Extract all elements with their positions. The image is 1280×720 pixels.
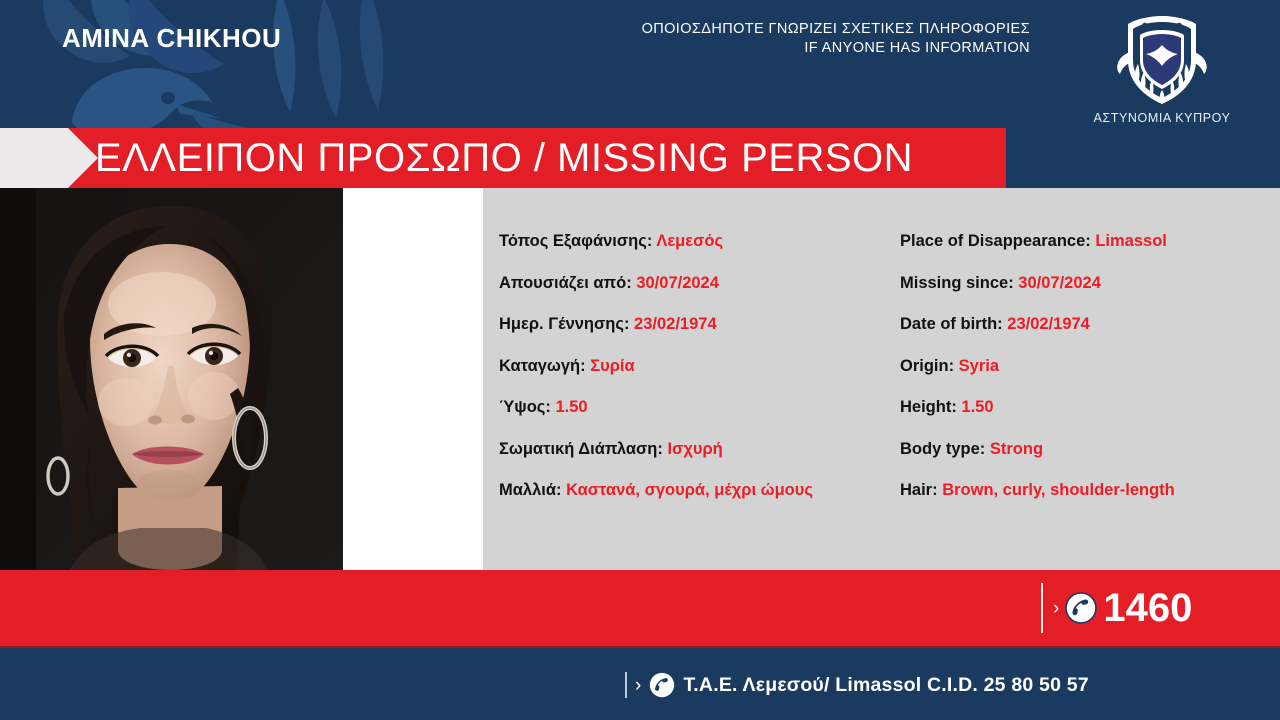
chevron-right-icon: › [1053, 599, 1059, 618]
field-origin-en: Origin: Syria [900, 357, 1175, 376]
field-label: Hair: [900, 481, 938, 499]
field-missing-since-en: Missing since: 30/07/2024 [900, 274, 1175, 293]
chevron-right-icon: › [635, 676, 641, 695]
field-label: Place of Disappearance: [900, 232, 1091, 250]
field-label: Τόπος Εξαφάνισης: [499, 232, 652, 250]
field-place-of-disappearance-en: Place of Disappearance: Limassol [900, 232, 1175, 251]
field-value: Strong [990, 440, 1043, 458]
field-value: Syria [959, 357, 999, 375]
police-emblem-block: ΑΣΤΥΝΟΜΙΑ ΚΥΠΡΟΥ [1062, 12, 1262, 125]
field-missing-since-gr: Απουσιάζει από: 30/07/2024 [499, 274, 813, 293]
field-hair-gr: Μαλλιά: Καστανά, σγουρά, μέχρι ώμους [499, 481, 813, 500]
field-label: Missing since: [900, 274, 1014, 292]
field-height-en: Height: 1.50 [900, 398, 1175, 417]
phone-icon [1065, 592, 1097, 624]
field-label: Height: [900, 398, 957, 416]
page-title: ΕΛΛΕΙΠΟΝ ΠΡΟΣΩΠΟ / MISSING PERSON [95, 128, 913, 188]
field-value: Ισχυρή [667, 440, 722, 458]
hotline-divider [1041, 583, 1043, 633]
field-value: Limassol [1095, 232, 1167, 250]
field-label: Date of birth: [900, 315, 1003, 333]
field-value: 1.50 [961, 398, 993, 416]
field-hair-en: Hair: Brown, curly, shoulder-length [900, 481, 1175, 500]
field-label: Καταγωγή: [499, 357, 586, 375]
field-value: Λεμεσός [656, 232, 723, 250]
police-organization-label: ΑΣΤΥΝΟΜΙΑ ΚΥΠΡΟΥ [1062, 111, 1262, 125]
field-value: 30/07/2024 [636, 274, 719, 292]
field-value: Συρία [590, 357, 634, 375]
contact-text[interactable]: Τ.Α.Ε. Λεμεσού/ Limassol C.I.D. 25 80 50… [683, 674, 1089, 697]
field-value: 23/02/1974 [634, 315, 717, 333]
contact-group[interactable]: › Τ.Α.Ε. Λεμεσού/ Limassol C.I.D. 25 80 … [625, 648, 1089, 720]
field-place-of-disappearance-gr: Τόπος Εξαφάνισης: Λεμεσός [499, 232, 813, 251]
field-value: 23/02/1974 [1007, 315, 1090, 333]
field-origin-gr: Καταγωγή: Συρία [499, 357, 813, 376]
phone-icon [649, 672, 675, 698]
information-appeal-text: ΟΠΟΙΟΣΔΗΠΟΤΕ ΓΝΩΡΙΖΕΙ ΣΧΕΤΙΚΕΣ ΠΛΗΡΟΦΟΡΙ… [600, 0, 1030, 76]
field-label: Ύψος: [499, 398, 551, 416]
field-value: Brown, curly, shoulder-length [942, 481, 1175, 499]
field-value: Καστανά, σγουρά, μέχρι ώμους [566, 481, 813, 499]
missing-person-poster: ΑΣΤΥΝΟΜΙΑ ΚΥΠΡΟΥ Για μια πιο ασφαλή κοιν… [0, 0, 1280, 720]
details-column-greek: Τόπος Εξαφάνισης: Λεμεσός Απουσιάζει από… [499, 232, 813, 523]
hotline-group[interactable]: › 1460 [1053, 570, 1192, 646]
field-label: Σωματική Διάπλαση: [499, 440, 663, 458]
field-date-of-birth-en: Date of birth: 23/02/1974 [900, 315, 1175, 334]
missing-person-photograph [0, 188, 343, 570]
appeal-line-greek: ΟΠΟΙΟΣΔΗΠΟΤΕ ΓΝΩΡΙΖΕΙ ΣΧΕΤΙΚΕΣ ΠΛΗΡΟΦΟΡΙ… [642, 21, 1030, 37]
details-panel: Τόπος Εξαφάνισης: Λεμεσός Απουσιάζει από… [483, 188, 1280, 570]
cyprus-police-shield-emblem [1108, 12, 1216, 108]
field-value: 30/07/2024 [1018, 274, 1101, 292]
field-label: Μαλλιά: [499, 481, 561, 499]
field-label: Ημερ. Γέννησης: [499, 315, 629, 333]
contact-bar: › Τ.Α.Ε. Λεμεσού/ Limassol C.I.D. 25 80 … [0, 646, 1280, 720]
appeal-line-english: IF ANYONE HAS INFORMATION [804, 40, 1030, 56]
field-body-type-gr: Σωματική Διάπλαση: Ισχυρή [499, 440, 813, 459]
field-height-gr: Ύψος: 1.50 [499, 398, 813, 417]
missing-person-title-band: ΕΛΛΕΙΠΟΝ ΠΡΟΣΩΠΟ / MISSING PERSON [0, 128, 1280, 188]
field-label: Απουσιάζει από: [499, 274, 632, 292]
contact-divider [625, 672, 627, 698]
field-value: 1.50 [555, 398, 587, 416]
details-column-english: Place of Disappearance: Limassol Missing… [900, 232, 1175, 523]
field-date-of-birth-gr: Ημερ. Γέννησης: 23/02/1974 [499, 315, 813, 334]
hotline-number[interactable]: 1460 [1103, 588, 1192, 628]
field-body-type-en: Body type: Strong [900, 440, 1175, 459]
missing-person-name: AMINA CHIKHOU [62, 0, 281, 76]
field-label: Body type: [900, 440, 985, 458]
poster-body: Τόπος Εξαφάνισης: Λεμεσός Απουσιάζει από… [0, 188, 1280, 570]
field-label: Origin: [900, 357, 954, 375]
